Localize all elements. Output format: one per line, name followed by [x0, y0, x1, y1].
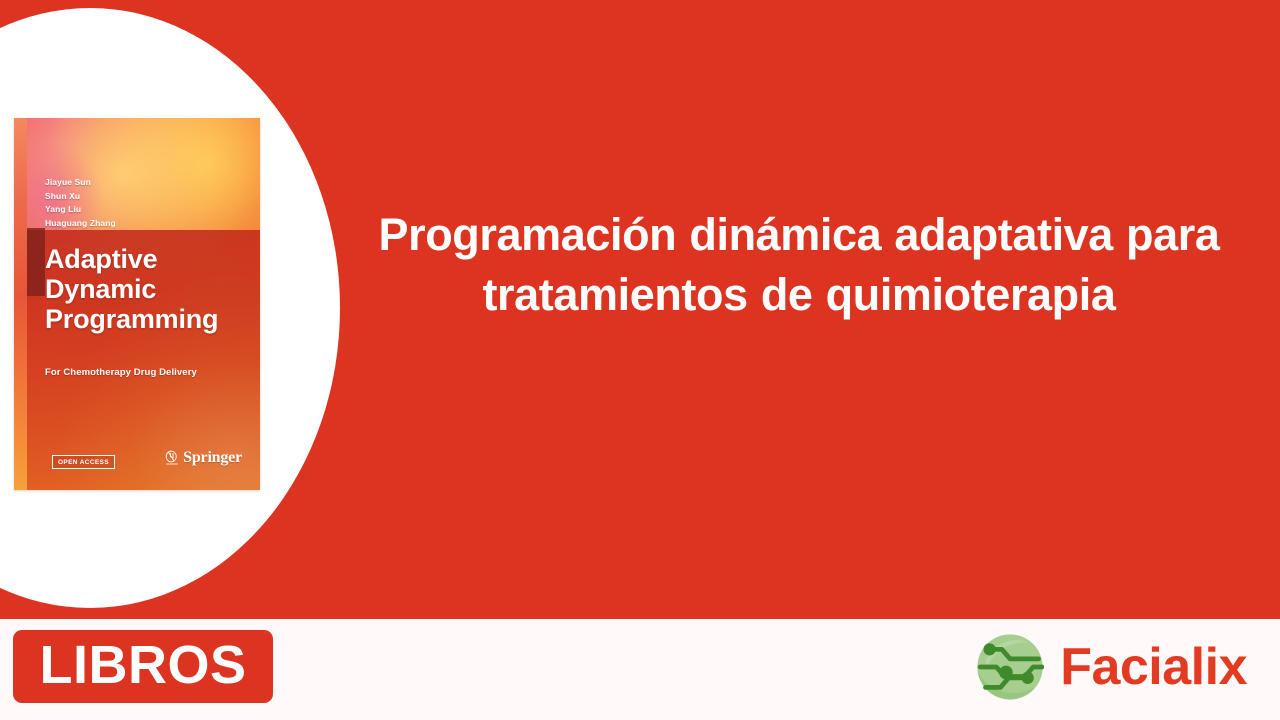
hero-banner: Jiayue Sun Shun Xu Yang Liu Huaguang Zha… [0, 0, 1280, 619]
book-cover-spine [14, 118, 27, 490]
facialix-wordmark: Facialix [1060, 641, 1247, 693]
page-title: Programación dinámica adaptativa para tr… [345, 205, 1253, 325]
springer-horse-icon [164, 449, 180, 467]
book-title: Adaptive Dynamic Programming [45, 244, 255, 334]
slide-canvas: Jiayue Sun Shun Xu Yang Liu Huaguang Zha… [0, 0, 1280, 720]
book-author-list: Jiayue Sun Shun Xu Yang Liu Huaguang Zha… [45, 176, 116, 230]
open-access-badge: OPEN ACCESS [52, 455, 115, 469]
book-author: Shun Xu [45, 190, 116, 204]
libros-badge[interactable]: LIBROS [13, 630, 273, 703]
springer-logo: Springer [164, 449, 242, 467]
facialix-circuit-logo-icon [976, 633, 1044, 701]
libros-badge-label: LIBROS [39, 638, 246, 695]
footer-bar: LIBROS Facialix [0, 619, 1280, 720]
book-subtitle: For Chemotherapy Drug Delivery [45, 367, 197, 378]
book-author: Jiayue Sun [45, 176, 116, 190]
book-author: Huaguang Zhang [45, 217, 116, 231]
book-cover-image: Jiayue Sun Shun Xu Yang Liu Huaguang Zha… [14, 118, 260, 490]
springer-wordmark: Springer [183, 449, 242, 467]
book-author: Yang Liu [45, 203, 116, 217]
book-cover-spine-shadow [27, 228, 45, 296]
facialix-brand-lockup[interactable]: Facialix [976, 633, 1247, 701]
